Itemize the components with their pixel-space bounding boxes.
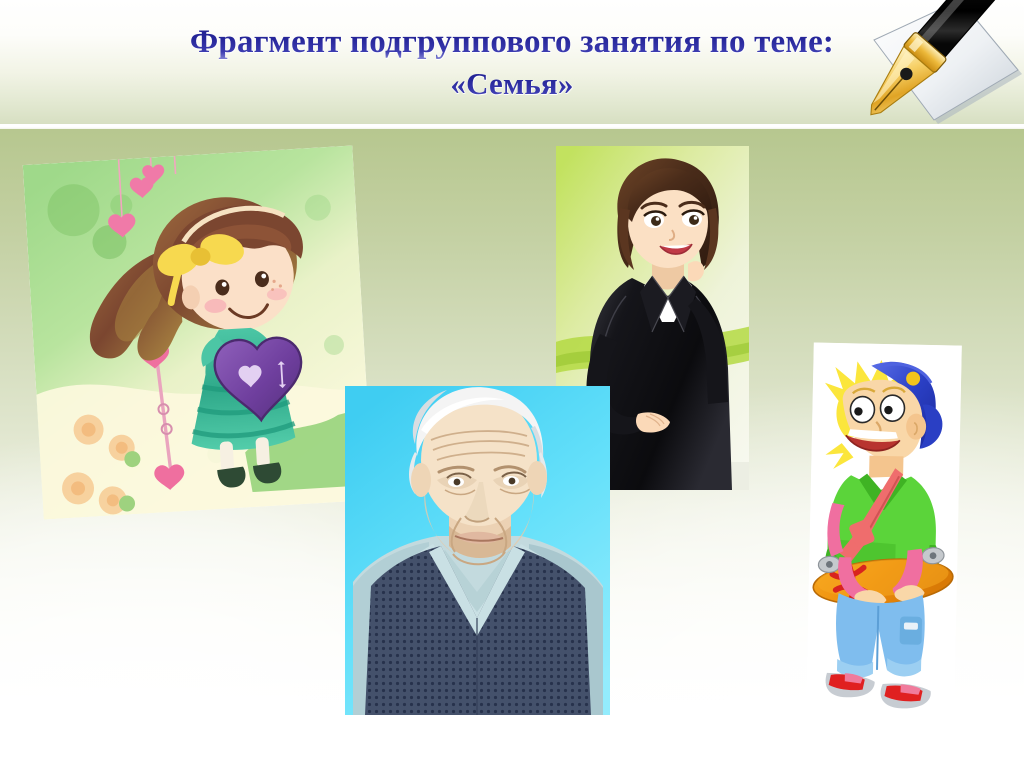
photo-boy-with-skateboard (806, 342, 962, 711)
presentation-slide: Фрагмент подгруппового занятия по теме: … (0, 0, 1024, 767)
jeans-pocket (900, 616, 923, 644)
photo-girl-with-heart (23, 146, 373, 520)
photo-grandfather (345, 386, 610, 715)
fountain-pen-icon (852, 0, 1024, 148)
